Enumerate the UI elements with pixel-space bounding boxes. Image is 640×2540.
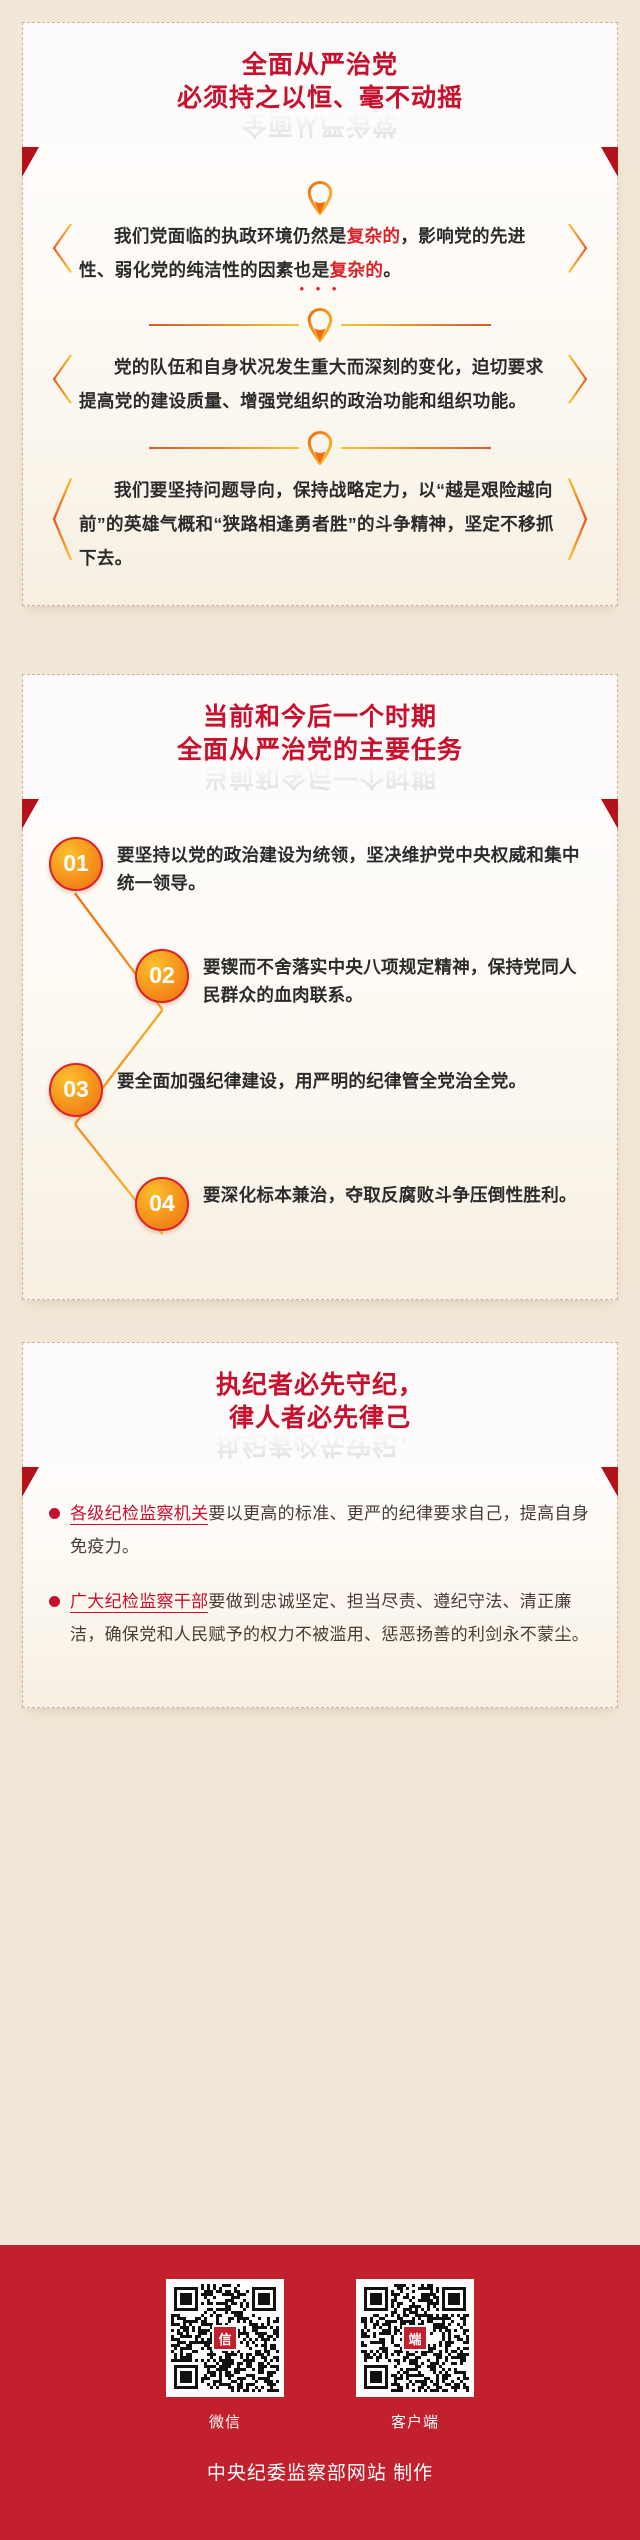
section3-title-line-1: 执纪者必先守纪， <box>33 1369 607 1402</box>
step-badge-03: 03 <box>49 1063 103 1117</box>
numbered-steps-list: 01 要坚持以党的政治建设为统领，坚决维护党中央权威和集中统一领导。 02 要锲… <box>45 825 595 1265</box>
section1-body: 我们党面临的执政环境仍然是复杂的，影响党的先进性、弱化党的纯洁性的因素也是复杂的… <box>22 147 618 606</box>
bullet-dot-icon-2 <box>49 1596 60 1607</box>
step-item-03: 03 要全面加强纪律建设，用严明的纪律管全党治全党。 <box>49 1063 591 1147</box>
location-pin-icon <box>307 181 333 215</box>
section2-title-line-2: 全面从严治党的主要任务 <box>33 734 607 767</box>
corner-ribbon-left-icon-2 <box>22 799 39 829</box>
para1-seg-4-highlight: 复杂的 <box>330 260 384 280</box>
divider-line-right-2 <box>341 447 491 449</box>
paragraph-block-1: 我们党面临的执政环境仍然是复杂的，影响党的先进性、弱化党的纯洁性的因素也是复杂的… <box>49 215 591 287</box>
paragraph-block-2: 党的队伍和自身状况发生重大而深刻的变化，迫切要求提高党的建设质量、增强党组织的政… <box>49 346 591 418</box>
divider-line-left-2 <box>149 447 299 449</box>
step-badge-02: 02 <box>135 949 189 1003</box>
qr-center-glyph-wechat: 信 <box>212 2325 238 2351</box>
divider-line-right <box>341 324 491 326</box>
para1-seg-2-highlight: 复杂的 <box>347 226 401 246</box>
qr-label-app: 客户端 <box>356 2411 474 2432</box>
chevron-right-decor-3 <box>567 477 589 561</box>
section2-title-line-1: 当前和今后一个时期 <box>33 701 607 734</box>
section1-title: 全面从严治党 必须持之以恒、毫不动摇 <box>33 49 607 115</box>
chevron-left-decor-3 <box>51 477 73 561</box>
corner-ribbon-left-icon <box>22 147 39 177</box>
step-text-01: 要坚持以党的政治建设为统领，坚决维护党中央权威和集中统一领导。 <box>117 837 591 898</box>
qr-label-wechat: 微信 <box>166 2411 284 2432</box>
qr-code-row: 信 微信 端 客户端 <box>0 2279 640 2432</box>
section3-title-reflection: 执纪者必先守纪， 律人者必先律己 <box>33 1431 607 1461</box>
corner-ribbon-right-icon-2 <box>601 799 618 829</box>
step-item-04: 04 要深化标本兼治，夺取反腐败斗争压倒性胜利。 <box>49 1177 591 1261</box>
location-pin-icon-3 <box>307 431 333 465</box>
section3-title: 执纪者必先守纪， 律人者必先律己 <box>33 1369 607 1435</box>
bullet-item-1: 各级纪检监察机关要以更高的标准、更严的纪律要求自己，提高自身免疫力。 <box>49 1497 591 1563</box>
step-text-03: 要全面加强纪律建设，用严明的纪律管全党治全党。 <box>117 1063 526 1095</box>
section2-title-reflection: 当前和今后一个时期 全面从严治党的主要任务 <box>33 763 607 793</box>
para1-seg-1: 我们党面临的执政环境仍然是 <box>114 226 347 246</box>
divider-line-left <box>149 324 299 326</box>
para1-seg-5: 。 <box>383 260 401 280</box>
section1-title-reflection: 全面从严治党 必须持之以恒、毫不动摇 <box>33 111 607 141</box>
qr-center-glyph-app: 端 <box>402 2325 428 2351</box>
step-badge-01: 01 <box>49 837 103 891</box>
divider-2 <box>49 431 591 465</box>
footer: 信 微信 端 客户端 中央纪委监察部网站 制作 <box>0 2245 640 2540</box>
step-item-02: 02 要锲而不舍落实中央八项规定精神，保持党同人民群众的血肉联系。 <box>49 949 591 1033</box>
location-pin-icon-2 <box>307 308 333 342</box>
section2-title-reflection-line-1: 当前和今后一个时期 <box>33 763 607 793</box>
chevron-left-decor-1 <box>51 223 73 273</box>
section1-title-line-1: 全面从严治党 <box>33 49 607 82</box>
section3-title-line-2: 律人者必先律己 <box>33 1402 607 1435</box>
qr-item-wechat[interactable]: 信 微信 <box>166 2279 284 2432</box>
section-card-1: 全面从严治党 必须持之以恒、毫不动摇 全面从严治党 必须持之以恒、毫不动摇 <box>22 22 618 606</box>
corner-ribbon-right-icon-3 <box>601 1467 618 1497</box>
bullet-key-1: 各级纪检监察机关 <box>70 1504 208 1525</box>
step-text-02: 要锲而不舍落实中央八项规定精神，保持党同人民群众的血肉联系。 <box>203 949 591 1010</box>
bullet-dot-icon-1 <box>49 1508 60 1519</box>
section1-title-block: 全面从严治党 必须持之以恒、毫不动摇 全面从严治党 必须持之以恒、毫不动摇 <box>22 22 618 147</box>
step-badge-04: 04 <box>135 1177 189 1231</box>
section-card-2: 当前和今后一个时期 全面从严治党的主要任务 当前和今后一个时期 全面从严治党的主… <box>22 674 618 1300</box>
paragraph-2: 党的队伍和自身状况发生重大而深刻的变化，迫切要求提高党的建设质量、增强党组织的政… <box>79 350 561 418</box>
bullet-text-1: 各级纪检监察机关要以更高的标准、更严的纪律要求自己，提高自身免疫力。 <box>70 1497 591 1563</box>
qr-code-wechat[interactable]: 信 <box>166 2279 284 2397</box>
bullet-item-2: 广大纪检监察干部要做到忠诚坚定、担当尽责、遵纪守法、清正廉洁，确保党和人民赋予的… <box>49 1585 591 1651</box>
section3-body: 各级纪检监察机关要以更高的标准、更严的纪律要求自己，提高自身免疫力。 广大纪检监… <box>22 1467 618 1709</box>
divider-1 <box>49 308 591 342</box>
chevron-right-decor-1 <box>567 223 589 273</box>
step-item-01: 01 要坚持以党的政治建设为统领，坚决维护党中央权威和集中统一领导。 <box>49 837 591 921</box>
section1-title-reflection-line-1: 全面从严治党 <box>33 111 607 141</box>
corner-ribbon-right-icon <box>601 147 618 177</box>
section2-title: 当前和今后一个时期 全面从严治党的主要任务 <box>33 701 607 767</box>
step-text-04: 要深化标本兼治，夺取反腐败斗争压倒性胜利。 <box>203 1177 577 1209</box>
section3-title-reflection-line-1: 执纪者必先守纪， <box>33 1431 607 1461</box>
bullet-text-2: 广大纪检监察干部要做到忠诚坚定、担当尽责、遵纪守法、清正廉洁，确保党和人民赋予的… <box>70 1585 591 1651</box>
corner-ribbon-left-icon-3 <box>22 1467 39 1497</box>
section3-title-block: 执纪者必先守纪， 律人者必先律己 执纪者必先守纪， 律人者必先律己 <box>22 1342 618 1467</box>
section-card-3: 执纪者必先守纪， 律人者必先律己 执纪者必先守纪， 律人者必先律己 各级纪检监察… <box>22 1342 618 1709</box>
footer-credit: 中央纪委监察部网站 制作 <box>0 2458 640 2485</box>
qr-item-app[interactable]: 端 客户端 <box>356 2279 474 2432</box>
chevron-right-decor-2 <box>567 354 589 404</box>
section2-title-block: 当前和今后一个时期 全面从严治党的主要任务 当前和今后一个时期 全面从严治党的主… <box>22 674 618 799</box>
bullet-key-2: 广大纪检监察干部 <box>70 1592 208 1613</box>
section1-title-line-2: 必须持之以恒、毫不动摇 <box>33 82 607 115</box>
chevron-left-decor-2 <box>51 354 73 404</box>
section2-body: 01 要坚持以党的政治建设为统领，坚决维护党中央权威和集中统一领导。 02 要锲… <box>22 799 618 1300</box>
paragraph-1: 我们党面临的执政环境仍然是复杂的，影响党的先进性、弱化党的纯洁性的因素也是复杂的… <box>79 219 561 287</box>
paragraph-block-3: 我们要坚持问题导向，保持战略定力，以“越是艰险越向前”的英雄气概和“狭路相逢勇者… <box>49 469 591 575</box>
paragraph-3: 我们要坚持问题导向，保持战略定力，以“越是艰险越向前”的英雄气概和“狭路相逢勇者… <box>79 473 561 575</box>
qr-code-app[interactable]: 端 <box>356 2279 474 2397</box>
